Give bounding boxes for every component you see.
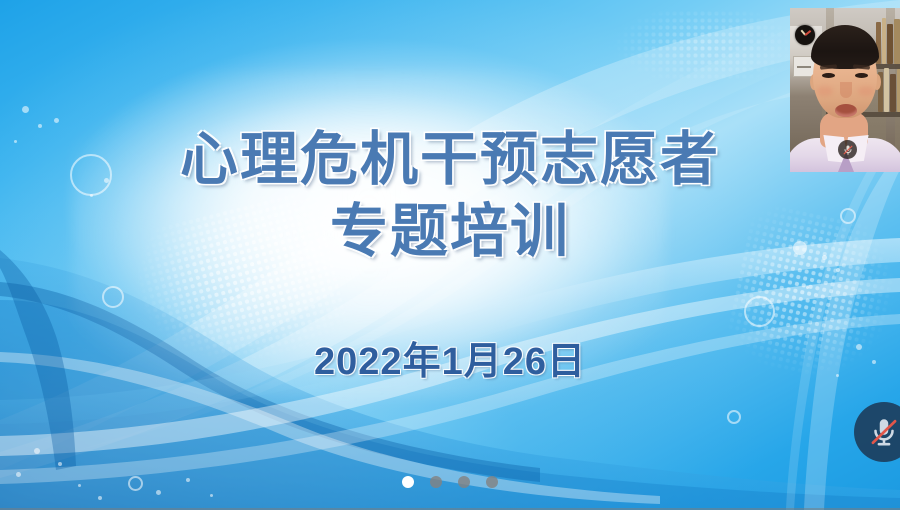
carousel-dot-2[interactable] — [430, 476, 442, 488]
book — [890, 74, 896, 112]
presentation-slide[interactable]: 心理危机干预志愿者 专题培训 2022年1月26日 — [0, 0, 900, 510]
carousel-dot-3[interactable] — [458, 476, 470, 488]
book — [894, 19, 900, 64]
presenter-video-thumbnail[interactable] — [790, 8, 900, 172]
presenter-eye-left — [822, 73, 835, 78]
background-wave-decoration — [0, 0, 900, 510]
book — [884, 68, 889, 112]
presenter-eye-right — [855, 73, 868, 78]
book — [882, 18, 886, 64]
presenter-cheek-left — [817, 86, 833, 96]
carousel-dot-4[interactable] — [486, 476, 498, 488]
storage-box-handle — [797, 66, 811, 68]
presenter-nose — [840, 82, 852, 98]
book — [887, 24, 893, 64]
carousel-dots[interactable] — [0, 476, 900, 488]
presenter-mouth — [835, 104, 857, 117]
wall-clock-icon — [795, 25, 815, 45]
presenter-video-feed — [790, 8, 900, 172]
carousel-dot-1[interactable] — [402, 476, 414, 488]
presenter-cheek-right — [858, 86, 874, 96]
screen-root: 心理危机干预志愿者 专题培训 2022年1月26日 — [0, 0, 900, 510]
pip-microphone-muted-icon[interactable] — [838, 140, 857, 159]
